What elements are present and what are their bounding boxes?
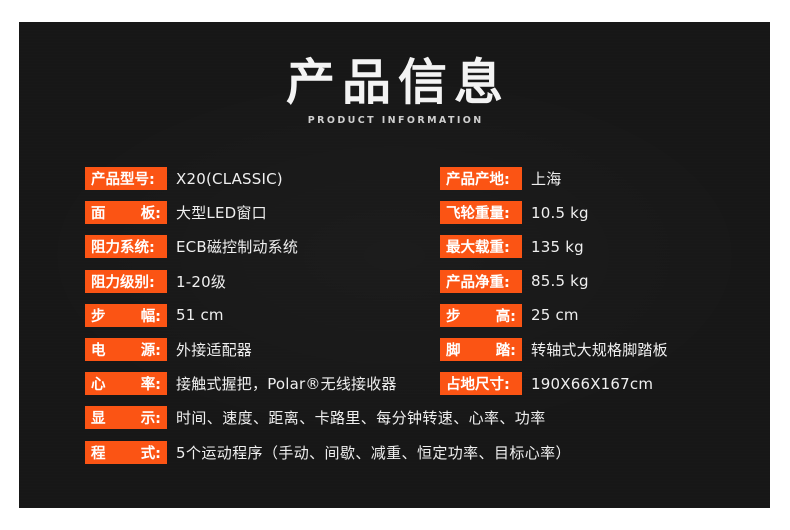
spec-label-text: 电源: [91, 339, 161, 360]
spec-value: 转轴式大规格脚踏板 [531, 339, 668, 360]
spec-label-text: 显示: [91, 407, 161, 428]
page-title: 产品信息 [19, 57, 770, 109]
spec-row: 飞轮重量:10.5 kg [440, 201, 589, 224]
spec-label-part-b: 率: [141, 373, 161, 394]
spec-row: 程式:5个运动程序（手动、间歇、减重、恒定功率、目标心率） [85, 441, 571, 464]
spec-label-badge: 面板: [85, 201, 167, 224]
spec-label-text: 飞轮重量: [446, 202, 510, 223]
spec-label-badge: 心率: [85, 372, 167, 395]
spec-label-badge: 电源: [85, 338, 167, 361]
spec-label-text: 产品净重: [446, 271, 510, 292]
spec-label-part-b: 式: [141, 442, 161, 463]
spec-label-badge: 最大载重: [440, 235, 522, 258]
spec-label-part-a: 电 [91, 339, 106, 360]
spec-label-badge: 程式: [85, 441, 167, 464]
spec-label-part-a: 步 [446, 305, 461, 326]
spec-label-part-a: 程 [91, 442, 106, 463]
spec-row: 心率:接触式握把，Polar®无线接收器 [85, 372, 397, 395]
spec-label-badge: 产品净重: [440, 270, 522, 293]
spec-label-badge: 步幅: [85, 304, 167, 327]
spec-value: 上海 [531, 168, 561, 189]
spec-row: 产品净重:85.5 kg [440, 270, 589, 293]
spec-label-part-b: 踏: [496, 339, 516, 360]
spec-value: ECB磁控制动系统 [176, 236, 298, 257]
spec-value: 大型LED窗口 [176, 202, 267, 223]
heading-block: 产品信息 PRODUCT INFORMATION [19, 57, 770, 126]
spec-value: 时间、速度、距离、卡路里、每分钟转速、心率、功率 [176, 407, 546, 428]
spec-label-text: 脚踏: [446, 339, 516, 360]
spec-row: 占地尺寸:190X66X167cm [440, 372, 653, 395]
spec-label-badge: 脚踏: [440, 338, 522, 361]
spec-value: 25 cm [531, 306, 579, 324]
spec-row: 电源:外接适配器 [85, 338, 252, 361]
spec-label-badge: 产品型号: [85, 167, 167, 190]
spec-label-part-b: 幅: [141, 305, 161, 326]
spec-label-badge: 占地尺寸: [440, 372, 522, 395]
spec-value: X20(CLASSIC) [176, 170, 283, 188]
spec-label-text: 步高: [446, 305, 516, 326]
spec-label-text: 阻力级别: [91, 271, 155, 292]
spec-value: 10.5 kg [531, 204, 589, 222]
spec-label-badge: 飞轮重量: [440, 201, 522, 224]
spec-row: 面板:大型LED窗口 [85, 201, 267, 224]
spec-label-text: 步幅: [91, 305, 161, 326]
spec-label-text: 面板: [91, 202, 161, 223]
spec-label-badge: 显示: [85, 406, 167, 429]
spec-value: 1-20级 [176, 271, 226, 292]
spec-value: 135 kg [531, 238, 584, 256]
spec-row: 脚踏:转轴式大规格脚踏板 [440, 338, 668, 361]
spec-label-part-b: 示: [141, 407, 161, 428]
spec-row: 步幅:51 cm [85, 304, 224, 327]
spec-row: 阻力系统:ECB磁控制动系统 [85, 235, 298, 258]
spec-row: 阻力级别:1-20级 [85, 270, 226, 293]
spec-label-text: 最大载重: [446, 236, 510, 257]
spec-row: 步高:25 cm [440, 304, 579, 327]
spec-row: 产品产地:上海 [440, 167, 561, 190]
page-subtitle: PRODUCT INFORMATION [19, 115, 770, 126]
spec-label-part-a: 脚 [446, 339, 461, 360]
spec-value: 190X66X167cm [531, 375, 653, 393]
spec-value: 接触式握把，Polar®无线接收器 [176, 373, 397, 394]
spec-value: 85.5 kg [531, 272, 589, 290]
spec-row: 最大载重:135 kg [440, 235, 584, 258]
spec-label-text: 阻力系统: [91, 236, 155, 257]
spec-label-text: 产品产地: [446, 168, 510, 189]
spec-label-part-a: 显 [91, 407, 106, 428]
spec-label-text: 占地尺寸: [446, 373, 510, 394]
spec-label-text: 心率: [91, 373, 161, 394]
spec-label-badge: 阻力系统: [85, 235, 167, 258]
spec-label-part-a: 心 [91, 373, 106, 394]
spec-label-badge: 阻力级别: [85, 270, 167, 293]
spec-row: 显示:时间、速度、距离、卡路里、每分钟转速、心率、功率 [85, 406, 546, 429]
spec-label-text: 程式: [91, 442, 161, 463]
spec-value: 外接适配器 [176, 339, 252, 360]
spec-label-part-b: 高: [496, 305, 516, 326]
product-info-panel: 产品信息 PRODUCT INFORMATION 产品型号:X20(CLASSI… [19, 22, 770, 508]
spec-label-part-b: 源: [141, 339, 161, 360]
spec-value: 51 cm [176, 306, 224, 324]
spec-label-text: 产品型号: [91, 168, 155, 189]
spec-label-badge: 产品产地: [440, 167, 522, 190]
spec-label-part-b: 板: [141, 202, 161, 223]
spec-label-badge: 步高: [440, 304, 522, 327]
spec-label-part-a: 步 [91, 305, 106, 326]
spec-row: 产品型号:X20(CLASSIC) [85, 167, 283, 190]
spec-label-part-a: 面 [91, 202, 106, 223]
spec-value: 5个运动程序（手动、间歇、减重、恒定功率、目标心率） [176, 442, 571, 463]
